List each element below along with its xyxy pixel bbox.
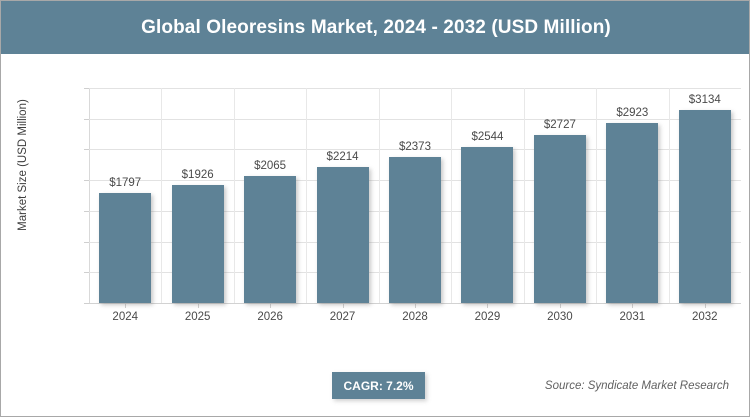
bar-value-label: $2544 xyxy=(471,131,503,143)
bar[interactable] xyxy=(244,176,296,303)
bar-group: $3134 xyxy=(669,88,741,303)
bar[interactable] xyxy=(461,147,513,303)
x-axis-tick-label: 2024 xyxy=(112,311,138,323)
bar[interactable] xyxy=(534,135,586,303)
x-axis-tick-mark xyxy=(198,303,199,308)
bar-group: $2923 xyxy=(596,88,668,303)
bar[interactable] xyxy=(317,167,369,303)
x-axis-tick-mark xyxy=(632,303,633,308)
bar-value-label: $1797 xyxy=(109,177,141,189)
bar[interactable] xyxy=(389,157,441,303)
bar-group: $2373 xyxy=(379,88,451,303)
x-axis-tick-label: 2030 xyxy=(547,311,573,323)
bar-value-label: $2373 xyxy=(399,141,431,153)
x-axis-tick-label: 2028 xyxy=(402,311,428,323)
x-axis-tick-mark xyxy=(343,303,344,308)
source-note: Source: Syndicate Market Research xyxy=(545,380,729,392)
bar-value-label: $2923 xyxy=(616,107,648,119)
x-axis-tick-mark xyxy=(125,303,126,308)
x-axis-tick-label: 2029 xyxy=(475,311,501,323)
y-axis-tick-mark xyxy=(84,303,89,304)
bar[interactable] xyxy=(99,193,151,303)
footer-region: CAGR: 7.2% Source: Syndicate Market Rese… xyxy=(1,354,750,417)
x-axis-tick-mark xyxy=(487,303,488,308)
x-axis-tick-mark xyxy=(705,303,706,308)
bar-value-label: $1926 xyxy=(182,169,214,181)
bar[interactable] xyxy=(679,110,731,303)
x-axis-tick-label: 2031 xyxy=(620,311,646,323)
bar-value-label: $2065 xyxy=(254,160,286,172)
x-axis-tick-mark xyxy=(560,303,561,308)
bar-group: $2214 xyxy=(306,88,378,303)
bar-value-label: $2727 xyxy=(544,119,576,131)
cagr-badge: CAGR: 7.2% xyxy=(332,372,425,399)
page-title: Global Oleoresins Market, 2024 - 2032 (U… xyxy=(141,17,611,39)
x-axis-tick-label: 2025 xyxy=(185,311,211,323)
bar-group: $2544 xyxy=(451,88,523,303)
bar-group: $1926 xyxy=(161,88,233,303)
bar-group: $2065 xyxy=(234,88,306,303)
plot-region: Market Size (USD Million) $0$500$1000$15… xyxy=(1,54,750,354)
plot-area: $0$500$1000$1500$2000$2500$3000$3500 $17… xyxy=(89,88,741,303)
x-axis-tick-mark xyxy=(415,303,416,308)
bar-value-label: $3134 xyxy=(689,94,721,106)
chart-figure: Global Oleoresins Market, 2024 - 2032 (U… xyxy=(0,0,750,417)
y-axis-title: Market Size (USD Million) xyxy=(17,55,29,275)
bar-group: $2727 xyxy=(524,88,596,303)
x-axis-tick-label: 2027 xyxy=(330,311,356,323)
chart-header-band: Global Oleoresins Market, 2024 - 2032 (U… xyxy=(1,1,750,54)
bar[interactable] xyxy=(172,185,224,303)
bar-value-label: $2214 xyxy=(327,151,359,163)
bar-group: $1797 xyxy=(89,88,161,303)
bar[interactable] xyxy=(606,123,658,303)
x-axis-tick-label: 2032 xyxy=(692,311,718,323)
x-axis-tick-label: 2026 xyxy=(257,311,283,323)
x-axis-tick-mark xyxy=(270,303,271,308)
